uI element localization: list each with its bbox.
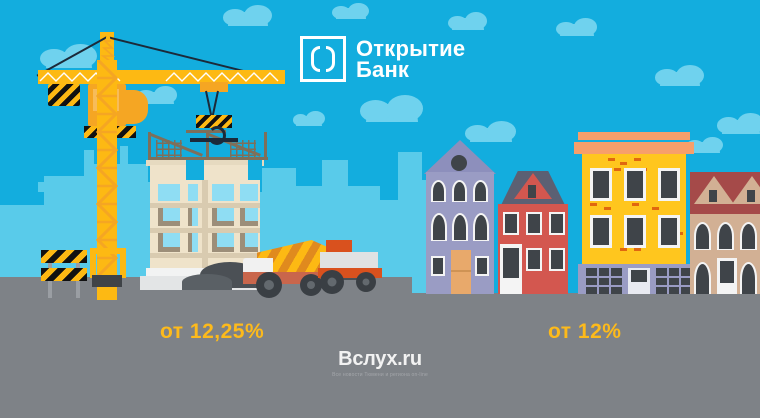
bank-logo-line2: Банк [356,59,465,80]
cloud [690,142,720,153]
house-door [451,250,471,294]
watermark-title: Вслух.ru [0,348,760,371]
cloud [560,24,594,36]
shop-window [586,268,622,294]
shop-window [656,268,692,294]
cloud [296,116,322,126]
rate-label-new-building: от 12,25% [160,320,264,344]
watermark-tagline: Все новости Тюмени и региона on-line [0,372,760,378]
jib-lattice [38,72,285,82]
cloud [366,104,418,122]
cloud [452,18,484,30]
mortgage-rates-banner: Открытие Банк от 12,25% от 12% Вслух.ru … [0,0,760,418]
bank-logo-text: Открытие Банк [356,38,465,80]
cloud [228,12,268,26]
rubble-pile [182,274,232,290]
bank-logo-line1: Открытие [356,38,465,59]
rate-label-resale: от 12% [548,320,621,344]
cloud [660,72,700,86]
otkrytie-bracket-icon [300,36,346,82]
cloud [336,8,366,19]
watermark: Вслух.ru Все новости Тюмени и региона on… [0,348,760,378]
skyline-block [38,182,46,192]
cloud [722,120,760,134]
crane-mast-lattice [96,60,118,276]
bank-logo[interactable]: Открытие Банк [300,36,465,82]
skyline-antenna [120,146,128,172]
